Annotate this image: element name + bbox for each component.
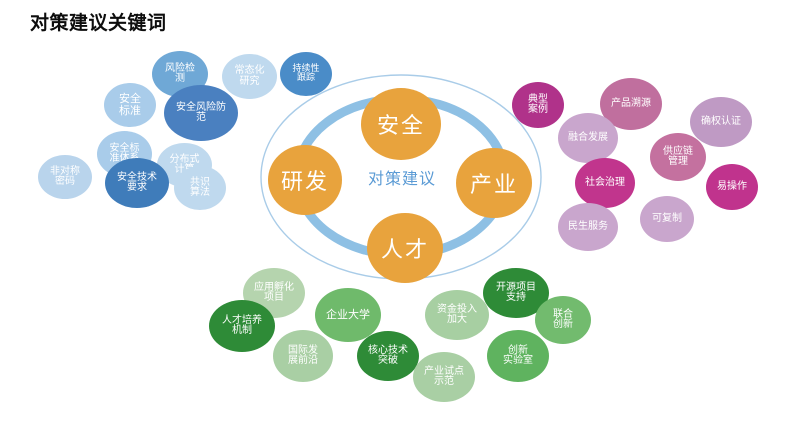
keyword-bubble[interactable]: 非对称密码 bbox=[38, 155, 92, 199]
keyword-bubble[interactable]: 融合发展 bbox=[558, 113, 618, 163]
keyword-bubble[interactable]: 安全标准 bbox=[104, 83, 156, 127]
keyword-bubble[interactable]: 可复制 bbox=[640, 196, 694, 242]
keyword-bubble[interactable]: 典型案例 bbox=[512, 82, 564, 128]
keyword-bubble-label: 安全风险防范 bbox=[176, 103, 226, 124]
keyword-bubble-label: 联合创新 bbox=[553, 310, 573, 331]
keyword-bubble[interactable]: 供应链管理 bbox=[650, 133, 706, 181]
keyword-bubble[interactable]: 联合创新 bbox=[535, 296, 591, 344]
keyword-bubble-label: 应用孵化项目 bbox=[254, 283, 294, 304]
keyword-bubble[interactable]: 产业试点示范 bbox=[413, 352, 475, 402]
keyword-bubble-label: 安全技术要求 bbox=[117, 173, 157, 194]
keyword-bubble[interactable]: 安全技术要求 bbox=[105, 158, 169, 208]
keyword-bubble-label: 产品溯源 bbox=[611, 99, 651, 110]
hub-talent[interactable]: 人才 bbox=[367, 213, 443, 283]
keyword-bubble-label: 产业试点示范 bbox=[424, 367, 464, 388]
keyword-bubble[interactable]: 易操作 bbox=[706, 164, 758, 210]
keyword-bubble-label: 开源项目支持 bbox=[496, 283, 536, 304]
keyword-bubble[interactable]: 国际发展前沿 bbox=[273, 330, 333, 382]
keyword-bubble[interactable]: 创新实验室 bbox=[487, 330, 549, 382]
keyword-bubble-label: 易操作 bbox=[717, 182, 747, 193]
keyword-bubble[interactable]: 核心技术突破 bbox=[357, 331, 419, 381]
hub-industry[interactable]: 产业 bbox=[456, 148, 532, 218]
keyword-bubble[interactable]: 确权认证 bbox=[690, 97, 752, 147]
keyword-bubble-label: 可复制 bbox=[652, 214, 682, 225]
keyword-bubble[interactable]: 民生服务 bbox=[558, 203, 618, 251]
keyword-bubble-label: 确权认证 bbox=[701, 117, 741, 128]
keyword-bubble-label: 创新实验室 bbox=[503, 346, 533, 367]
keyword-bubble[interactable]: 常态化研究 bbox=[222, 54, 277, 99]
keyword-bubble-label: 社会治理 bbox=[585, 178, 625, 189]
keyword-bubble-label: 非对称密码 bbox=[50, 167, 80, 188]
keyword-bubble-label: 持续性跟踪 bbox=[292, 65, 319, 84]
keyword-bubble-label: 常态化研究 bbox=[235, 66, 265, 87]
hub-rd[interactable]: 研发 bbox=[268, 145, 342, 215]
keyword-bubble-label: 融合发展 bbox=[568, 133, 608, 144]
hub-security[interactable]: 安全 bbox=[361, 88, 441, 160]
keyword-bubble-label: 资金投入加大 bbox=[437, 305, 477, 326]
keyword-bubble[interactable]: 安全风险防范 bbox=[164, 85, 238, 141]
center-label: 对策建议 bbox=[360, 165, 444, 189]
keyword-bubble-label: 核心技术突破 bbox=[368, 346, 408, 367]
keyword-bubble-label: 供应链管理 bbox=[663, 147, 693, 168]
keyword-bubble-label: 共识算法 bbox=[190, 178, 210, 199]
keyword-bubble-label: 人才培养机制 bbox=[222, 316, 262, 337]
keyword-bubble-label: 风险检测 bbox=[165, 64, 195, 85]
keyword-bubble[interactable]: 持续性跟踪 bbox=[280, 52, 332, 96]
keyword-bubble-label: 国际发展前沿 bbox=[288, 346, 318, 367]
slide-canvas: 对策建议关键词 风险检测常态化研究持续性跟踪安全标准安全风险防范安全标准体系分布… bbox=[0, 0, 800, 425]
keyword-bubble[interactable]: 资金投入加大 bbox=[425, 290, 489, 340]
hub-label: 安全 bbox=[377, 108, 425, 140]
hub-label: 人才 bbox=[381, 232, 429, 264]
keyword-bubble-label: 安全标准 bbox=[119, 93, 141, 116]
keyword-bubble-label: 民生服务 bbox=[568, 222, 608, 233]
hub-label: 产业 bbox=[470, 167, 518, 199]
keyword-bubble[interactable]: 社会治理 bbox=[575, 158, 635, 208]
keyword-bubble-label: 企业大学 bbox=[326, 309, 370, 321]
keyword-bubble-label: 典型案例 bbox=[528, 95, 548, 116]
keyword-bubble[interactable]: 人才培养机制 bbox=[209, 300, 275, 352]
hub-label: 研发 bbox=[281, 164, 329, 196]
keyword-bubble[interactable]: 共识算法 bbox=[174, 166, 226, 210]
